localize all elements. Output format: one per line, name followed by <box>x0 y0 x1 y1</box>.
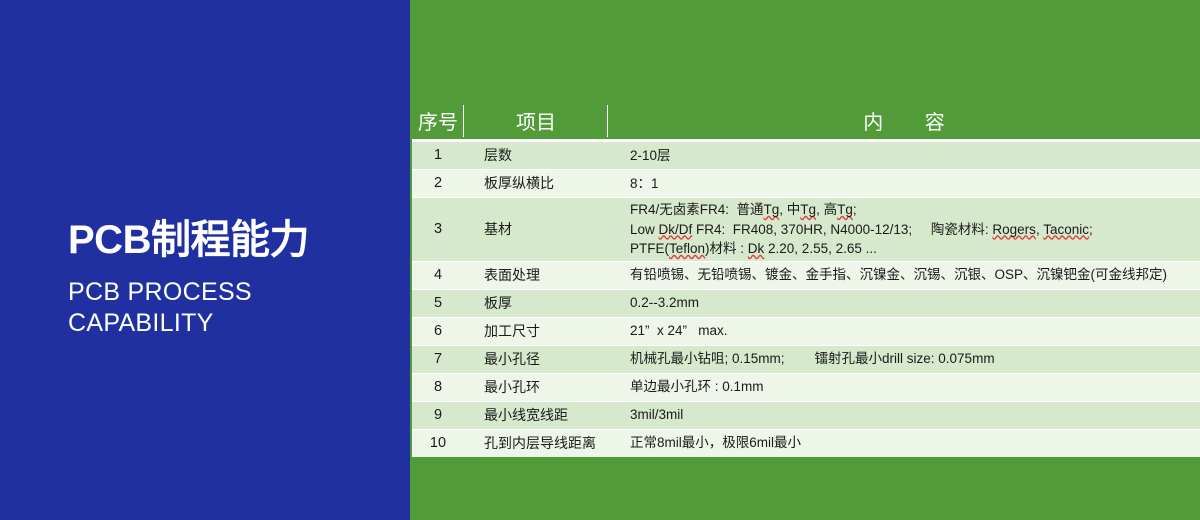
cell-item-name: 最小线宽线距 <box>464 401 608 429</box>
pcb-capability-table: 序号 项目 内 容 1层数2-10层2板厚纵横比8：13基材FR4/无卤素FR4… <box>412 101 1200 457</box>
content-line: 0.2--3.2mm <box>630 293 1196 313</box>
table-row: 3基材FR4/无卤素FR4: 普通Tg, 中Tg, 高Tg;Low Dk/Df … <box>412 198 1200 262</box>
cell-item-name: 基材 <box>464 198 608 262</box>
cell-content: 单边最小孔环 : 0.1mm <box>608 373 1200 401</box>
left-title-panel: PCB制程能力 PCB PROCESS CAPABILITY <box>0 0 410 520</box>
cell-content: 有铅喷锡、无铅喷锡、镀金、金手指、沉镍金、沉锡、沉银、OSP、沉镍钯金(可金线邦… <box>608 261 1200 289</box>
table-row: 7最小孔径机械孔最小钻咀; 0.15mm; 镭射孔最小drill size: 0… <box>412 345 1200 373</box>
page-title-english-line1: PCB PROCESS <box>68 277 398 308</box>
content-line: 8：1 <box>630 174 1196 194</box>
content-line: Low Dk/Df FR4: FR408, 370HR, N4000-12/13… <box>630 220 1196 240</box>
cell-item-name: 孔到内层导线距离 <box>464 429 608 457</box>
table-row: 8最小孔环单边最小孔环 : 0.1mm <box>412 373 1200 401</box>
table-row: 5板厚0.2--3.2mm <box>412 289 1200 317</box>
column-header-content-label: 内 容 <box>845 112 963 134</box>
cell-item-name: 加工尺寸 <box>464 317 608 345</box>
table-header-row: 序号 项目 内 容 <box>412 101 1200 141</box>
content-line: 2-10层 <box>630 146 1196 166</box>
content-line: 21” x 24” max. <box>630 321 1196 341</box>
table-row: 6加工尺寸21” x 24” max. <box>412 317 1200 345</box>
table-header: 序号 项目 内 容 <box>412 101 1200 141</box>
cell-content: 0.2--3.2mm <box>608 289 1200 317</box>
title-block: PCB制程能力 PCB PROCESS CAPABILITY <box>68 218 398 339</box>
table-row: 2板厚纵横比8：1 <box>412 170 1200 198</box>
cell-row-number: 9 <box>412 401 464 429</box>
cell-item-name: 表面处理 <box>464 261 608 289</box>
cell-row-number: 2 <box>412 170 464 198</box>
cell-item-name: 板厚 <box>464 289 608 317</box>
cell-content: 正常8mil最小，极限6mil最小 <box>608 429 1200 457</box>
cell-item-name: 板厚纵横比 <box>464 170 608 198</box>
content-line: 机械孔最小钻咀; 0.15mm; 镭射孔最小drill size: 0.075m… <box>630 349 1196 369</box>
content-line: 正常8mil最小，极限6mil最小 <box>630 433 1196 453</box>
cell-item-name: 层数 <box>464 141 608 170</box>
table-body: 1层数2-10层2板厚纵横比8：13基材FR4/无卤素FR4: 普通Tg, 中T… <box>412 141 1200 457</box>
table-row: 1层数2-10层 <box>412 141 1200 170</box>
slide-canvas: PCB制程能力 PCB PROCESS CAPABILITY 序号 项目 内 容 <box>0 0 1200 520</box>
cell-content: 3mil/3mil <box>608 401 1200 429</box>
page-title-english-line2: CAPABILITY <box>68 308 398 339</box>
cell-row-number: 4 <box>412 261 464 289</box>
cell-content: 2-10层 <box>608 141 1200 170</box>
column-header-content: 内 容 <box>608 101 1200 141</box>
page-title-chinese: PCB制程能力 <box>68 218 398 263</box>
page-title-english: PCB PROCESS CAPABILITY <box>68 277 398 340</box>
cell-content: 机械孔最小钻咀; 0.15mm; 镭射孔最小drill size: 0.075m… <box>608 345 1200 373</box>
column-header-item: 项目 <box>464 101 608 141</box>
content-line: FR4/无卤素FR4: 普通Tg, 中Tg, 高Tg; <box>630 200 1196 220</box>
cell-item-name: 最小孔径 <box>464 345 608 373</box>
cell-content: 21” x 24” max. <box>608 317 1200 345</box>
content-line: 单边最小孔环 : 0.1mm <box>630 377 1196 397</box>
content-line: 3mil/3mil <box>630 405 1196 425</box>
spec-table-wrapper: 序号 项目 内 容 1层数2-10层2板厚纵横比8：13基材FR4/无卤素FR4… <box>412 101 1200 457</box>
cell-row-number: 7 <box>412 345 464 373</box>
cell-row-number: 8 <box>412 373 464 401</box>
cell-row-number: 3 <box>412 198 464 262</box>
cell-row-number: 6 <box>412 317 464 345</box>
cell-row-number: 1 <box>412 141 464 170</box>
table-row: 10孔到内层导线距离正常8mil最小，极限6mil最小 <box>412 429 1200 457</box>
table-row: 9最小线宽线距3mil/3mil <box>412 401 1200 429</box>
cell-row-number: 5 <box>412 289 464 317</box>
cell-content: FR4/无卤素FR4: 普通Tg, 中Tg, 高Tg;Low Dk/Df FR4… <box>608 198 1200 262</box>
cell-row-number: 10 <box>412 429 464 457</box>
content-line: PTFE(Teflon)材料 : Dk 2.20, 2.55, 2.65 ... <box>630 239 1196 259</box>
cell-item-name: 最小孔环 <box>464 373 608 401</box>
content-line: 有铅喷锡、无铅喷锡、镀金、金手指、沉镍金、沉锡、沉银、OSP、沉镍钯金(可金线邦… <box>630 265 1196 285</box>
table-row: 4表面处理有铅喷锡、无铅喷锡、镀金、金手指、沉镍金、沉锡、沉银、OSP、沉镍钯金… <box>412 261 1200 289</box>
column-header-no: 序号 <box>412 101 464 141</box>
cell-content: 8：1 <box>608 170 1200 198</box>
